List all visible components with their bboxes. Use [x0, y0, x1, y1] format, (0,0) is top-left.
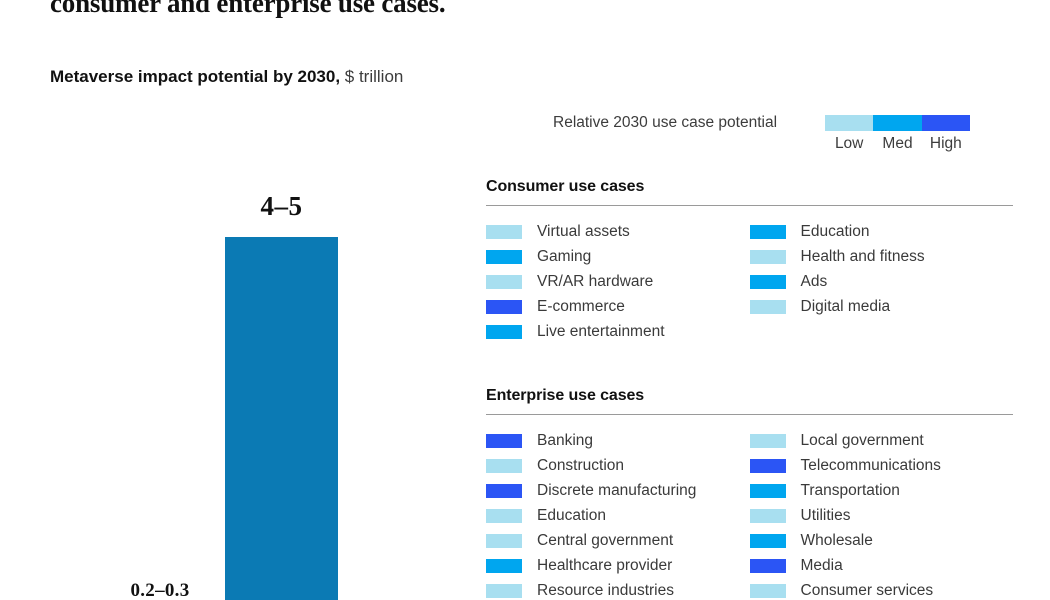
- consumer-legend-item: Ads: [750, 269, 1014, 294]
- legend-swatch-med: [486, 325, 522, 339]
- legend-swatch-high: [486, 434, 522, 448]
- legend-item-label: Virtual assets: [537, 223, 630, 241]
- consumer-panel-divider: [486, 205, 1013, 206]
- legend-item-label: Transportation: [801, 482, 900, 500]
- legend-swatch-low: [750, 509, 786, 523]
- enterprise-legend-item: Education: [486, 503, 750, 528]
- enterprise-legend-column-1: BankingConstructionDiscrete manufacturin…: [486, 428, 750, 600]
- enterprise-legend-item: Utilities: [750, 503, 1014, 528]
- legend-item-label: Digital media: [801, 298, 891, 316]
- enterprise-legend-item: Resource industries: [486, 578, 750, 600]
- scale-legend-swatches: [825, 115, 970, 131]
- legend-swatch-low: [486, 275, 522, 289]
- consumer-legend-item: Digital media: [750, 294, 1014, 319]
- scale-legend-label: Relative 2030 use case potential: [553, 114, 777, 132]
- legend-item-label: Education: [801, 223, 870, 241]
- legend-item-label: E-commerce: [537, 298, 625, 316]
- consumer-legend-item: Gaming: [486, 244, 750, 269]
- legend-item-label: Wholesale: [801, 532, 873, 550]
- enterprise-legend-item: Transportation: [750, 478, 1014, 503]
- scale-legend-ticks: LowMedHigh: [825, 135, 970, 153]
- legend-item-label: Local government: [801, 432, 924, 450]
- consumer-legend-column-2: EducationHealth and fitnessAdsDigital me…: [750, 219, 1014, 344]
- scale-swatch-med: [873, 115, 921, 131]
- legend-swatch-high: [486, 484, 522, 498]
- legend-swatch-low: [750, 584, 786, 598]
- enterprise-legend-item: Construction: [486, 453, 750, 478]
- legend-swatch-low: [486, 584, 522, 598]
- consumer-legend-item: VR/AR hardware: [486, 269, 750, 294]
- bar-value-label-lower: 0.2–0.3: [104, 580, 216, 600]
- legend-item-label: VR/AR hardware: [537, 273, 653, 291]
- legend-swatch-low: [750, 434, 786, 448]
- legend-swatch-low: [486, 225, 522, 239]
- enterprise-legend-item: Banking: [486, 428, 750, 453]
- consumer-legend-item: Live entertainment: [486, 319, 750, 344]
- consumer-legend-item: Education: [750, 219, 1014, 244]
- legend-item-label: Utilities: [801, 507, 851, 525]
- legend-swatch-low: [750, 250, 786, 264]
- bar-total-metaverse-impact: [225, 237, 338, 600]
- legend-item-label: Ads: [801, 273, 828, 291]
- consumer-panel-title: Consumer use cases: [486, 178, 1013, 196]
- enterprise-legend-item: Wholesale: [750, 528, 1014, 553]
- legend-swatch-med: [486, 250, 522, 264]
- legend-swatch-low: [750, 300, 786, 314]
- legend-item-label: Banking: [537, 432, 593, 450]
- scale-swatch-high: [922, 115, 970, 131]
- legend-swatch-low: [486, 459, 522, 473]
- legend-item-label: Health and fitness: [801, 248, 925, 266]
- legend-item-label: Discrete manufacturing: [537, 482, 696, 500]
- enterprise-legend-column-2: Local governmentTelecommunicationsTransp…: [750, 428, 1014, 600]
- scale-tick-label: Med: [873, 135, 921, 153]
- legend-item-label: Education: [537, 507, 606, 525]
- legend-swatch-high: [750, 459, 786, 473]
- enterprise-use-cases-panel: Enterprise use cases BankingConstruction…: [486, 387, 1013, 600]
- legend-item-label: Live entertainment: [537, 323, 665, 341]
- legend-item-label: Central government: [537, 532, 673, 550]
- consumer-legend-item: E-commerce: [486, 294, 750, 319]
- legend-swatch-high: [750, 559, 786, 573]
- legend-swatch-low: [486, 509, 522, 523]
- scale-tick-label: High: [922, 135, 970, 153]
- legend-swatch-med: [750, 484, 786, 498]
- consumer-legend-item: Health and fitness: [750, 244, 1014, 269]
- legend-item-label: Consumer services: [801, 582, 934, 600]
- legend-item-label: Resource industries: [537, 582, 674, 600]
- scale-tick-label: Low: [825, 135, 873, 153]
- bar-chart: 4–5 0.2–0.3: [0, 0, 470, 600]
- bar-value-label-main: 4–5: [225, 191, 338, 222]
- legend-swatch-med: [486, 559, 522, 573]
- consumer-legend-item: Virtual assets: [486, 219, 750, 244]
- enterprise-legend-item: Consumer services: [750, 578, 1014, 600]
- legend-swatch-med: [750, 225, 786, 239]
- enterprise-legend-item: Healthcare provider: [486, 553, 750, 578]
- consumer-use-cases-panel: Consumer use cases Virtual assetsGamingV…: [486, 178, 1013, 344]
- enterprise-legend-item: Discrete manufacturing: [486, 478, 750, 503]
- legend-item-label: Media: [801, 557, 843, 575]
- consumer-legend-column-1: Virtual assetsGamingVR/AR hardwareE-comm…: [486, 219, 750, 344]
- enterprise-legend-item: Media: [750, 553, 1014, 578]
- legend-swatch-low: [486, 534, 522, 548]
- enterprise-panel-divider: [486, 414, 1013, 415]
- legend-item-label: Telecommunications: [801, 457, 941, 475]
- legend-swatch-high: [486, 300, 522, 314]
- legend-swatch-med: [750, 534, 786, 548]
- scale-swatch-low: [825, 115, 873, 131]
- legend-item-label: Gaming: [537, 248, 591, 266]
- legend-swatch-med: [750, 275, 786, 289]
- legend-item-label: Healthcare provider: [537, 557, 672, 575]
- enterprise-panel-title: Enterprise use cases: [486, 387, 1013, 405]
- chart-page: consumer and enterprise use cases. Metav…: [0, 0, 1050, 600]
- enterprise-legend-item: Central government: [486, 528, 750, 553]
- enterprise-legend-item: Local government: [750, 428, 1014, 453]
- enterprise-legend-item: Telecommunications: [750, 453, 1014, 478]
- legend-item-label: Construction: [537, 457, 624, 475]
